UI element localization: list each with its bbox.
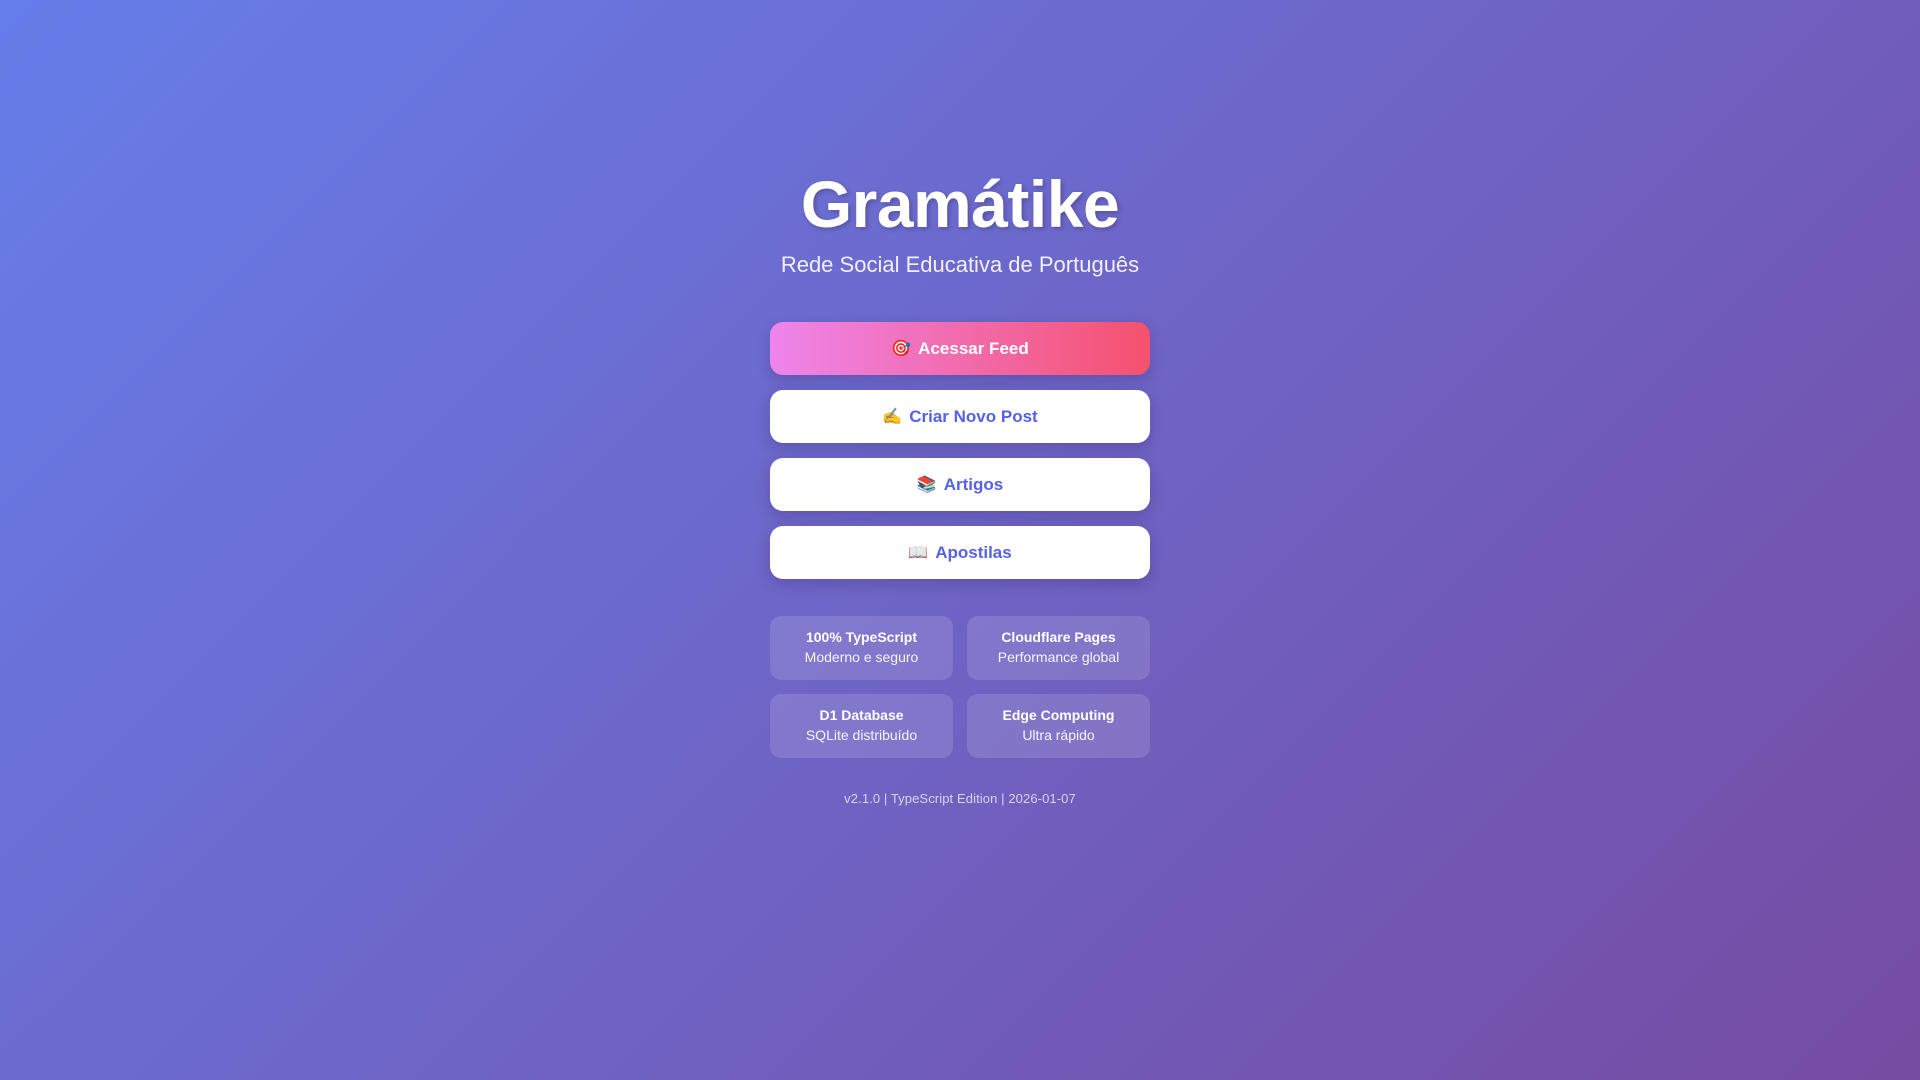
page-subtitle: Rede Social Educativa de Português — [781, 252, 1139, 278]
feature-title: D1 Database — [819, 707, 903, 725]
apostilas-label: Apostilas — [935, 543, 1012, 563]
feature-card-grid: 100% TypeScript Moderno e seguro Cloudfl… — [770, 616, 1150, 758]
acessar-feed-label: Acessar Feed — [918, 339, 1029, 359]
page-title: Gramátike — [801, 170, 1119, 239]
open-book-icon: 📖 — [908, 545, 928, 561]
acessar-feed-button[interactable]: 🎯 Acessar Feed — [770, 322, 1150, 375]
books-icon: 📚 — [917, 477, 937, 493]
artigos-button[interactable]: 📚 Artigos — [770, 458, 1150, 511]
feature-desc: Ultra rápido — [1022, 727, 1094, 745]
feature-desc: SQLite distribuído — [806, 727, 917, 745]
criar-novo-post-button[interactable]: ✍️ Criar Novo Post — [770, 390, 1150, 443]
feature-card-d1-database: D1 Database SQLite distribuído — [770, 694, 953, 758]
feature-title: 100% TypeScript — [806, 629, 917, 647]
landing-page: Gramátike Rede Social Educativa de Portu… — [770, 170, 1150, 807]
feature-title: Cloudflare Pages — [1001, 629, 1115, 647]
target-icon: 🎯 — [891, 341, 911, 357]
feature-title: Edge Computing — [1003, 707, 1115, 725]
artigos-label: Artigos — [944, 475, 1004, 495]
criar-novo-post-label: Criar Novo Post — [909, 407, 1037, 427]
feature-card-edge-computing: Edge Computing Ultra rápido — [967, 694, 1150, 758]
apostilas-button[interactable]: 📖 Apostilas — [770, 526, 1150, 579]
writing-hand-icon: ✍️ — [882, 409, 902, 425]
version-footer: v2.1.0 | TypeScript Edition | 2026-01-07 — [844, 791, 1076, 806]
action-button-list: 🎯 Acessar Feed ✍️ Criar Novo Post 📚 Arti… — [770, 322, 1150, 579]
feature-desc: Performance global — [998, 649, 1119, 667]
feature-desc: Moderno e seguro — [805, 649, 919, 667]
feature-card-typescript: 100% TypeScript Moderno e seguro — [770, 616, 953, 680]
feature-card-cloudflare-pages: Cloudflare Pages Performance global — [967, 616, 1150, 680]
